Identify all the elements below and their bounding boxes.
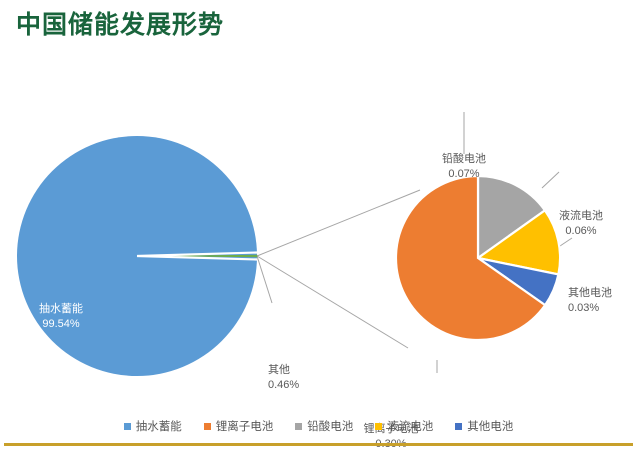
data-label-other: 其他 0.46% [268, 363, 328, 393]
legend-item-flow-battery[interactable]: 液流电池 [375, 418, 433, 434]
data-label-other-name: 其他 [268, 363, 328, 378]
data-label-pumped-storage-name: 抽水蓄能 [18, 302, 104, 317]
data-label-lead-acid-name: 铅酸电池 [423, 152, 505, 167]
data-label-other-value: 0.46% [268, 378, 328, 393]
page-title: 中国储能发展形势 [16, 12, 224, 40]
legend-swatch-lithium-ion [204, 423, 211, 430]
footer-divider [4, 443, 633, 446]
legend-item-pumped-storage[interactable]: 抽水蓄能 [124, 418, 182, 434]
legend-label-lithium-ion: 锂离子电池 [216, 418, 274, 434]
legend-swatch-pumped-storage [124, 423, 131, 430]
data-label-flow-battery: 液流电池 0.06% [540, 209, 622, 239]
legend-label-flow-battery: 液流电池 [387, 418, 433, 434]
legend-item-lithium-ion[interactable]: 锂离子电池 [204, 418, 274, 434]
connector-line-bottom [257, 256, 408, 348]
leader-line-other [257, 256, 272, 303]
data-label-pumped-storage-value: 99.54% [18, 317, 104, 332]
legend-item-lead-acid[interactable]: 铅酸电池 [295, 418, 353, 434]
data-label-flow-battery-value: 0.06% [540, 224, 622, 239]
data-label-other-battery: 其他电池 0.03% [568, 286, 634, 316]
legend-swatch-flow-battery [375, 423, 382, 430]
data-label-lead-acid-value: 0.07% [423, 167, 505, 182]
data-label-other-battery-value: 0.03% [568, 301, 634, 316]
legend-label-pumped-storage: 抽水蓄能 [136, 418, 182, 434]
primary-pie [17, 136, 257, 376]
connector-lines [257, 190, 420, 348]
chart-legend: 抽水蓄能 锂离子电池 铅酸电池 液流电池 其他电池 [0, 418, 637, 434]
connector-line-top [257, 190, 420, 256]
legend-item-other-battery[interactable]: 其他电池 [455, 418, 513, 434]
secondary-pie [396, 176, 560, 340]
legend-swatch-other-battery [455, 423, 462, 430]
legend-label-other-battery: 其他电池 [467, 418, 513, 434]
legend-label-lead-acid: 铅酸电池 [307, 418, 353, 434]
data-label-flow-battery-name: 液流电池 [540, 209, 622, 224]
pie-of-pie-chart: 抽水蓄能 99.54% 其他 0.46% 铅酸电池 0.07% 液流电池 0.0… [0, 60, 637, 420]
legend-swatch-lead-acid [295, 423, 302, 430]
data-label-lead-acid: 铅酸电池 0.07% [423, 152, 505, 182]
data-label-other-battery-name: 其他电池 [568, 286, 634, 301]
leader-line-flow [542, 172, 559, 188]
data-label-pumped-storage: 抽水蓄能 99.54% [18, 302, 104, 332]
